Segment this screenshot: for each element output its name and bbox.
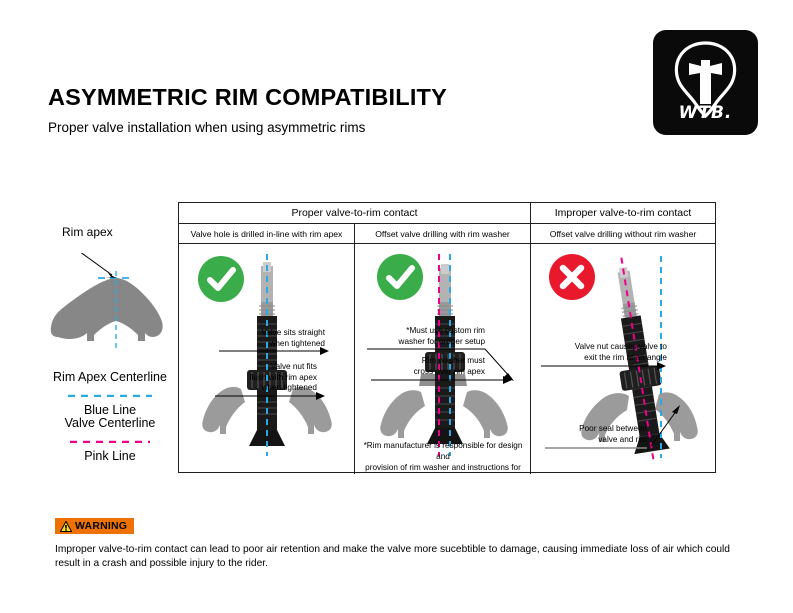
- warning-block: WARNING Improper valve-to-rim contact ca…: [55, 518, 745, 572]
- panel-offset-without-washer: Valve nut causes valve to exit the rim a…: [531, 244, 715, 474]
- legend-key-pink-line1: Valve Centerline: [40, 416, 180, 431]
- warning-badge-label: WARNING: [75, 520, 127, 532]
- page-title: ASYMMETRIC RIM COMPATIBILITY: [48, 84, 447, 111]
- legend-rim-apex-label: Rim apex: [62, 225, 113, 239]
- warning-triangle-icon: [60, 521, 72, 532]
- compatibility-table: Proper valve-to-rim contact Improper val…: [178, 202, 716, 473]
- column-header-1: Valve hole is drilled in-line with rim a…: [179, 224, 355, 243]
- wtb-logo: WTB.: [653, 30, 758, 135]
- panel-offset-with-washer: *Must use custom rim washer for proper s…: [355, 244, 531, 474]
- table-group-header-row: Proper valve-to-rim contact Improper val…: [179, 203, 715, 224]
- callout-valve-nut-flush: Valve nut fits flush with rim apex when …: [193, 362, 317, 394]
- panel-footnote-rim-manufacturer: *Rim manufacturer is responsible for des…: [361, 440, 525, 474]
- page-subtitle: Proper valve installation when using asy…: [48, 120, 365, 135]
- group-header-improper: Improper valve-to-rim contact: [531, 203, 715, 223]
- table-column-header-row: Valve hole is drilled in-line with rim a…: [179, 224, 715, 244]
- table-body-row: Valve sits straight when tightened Valve…: [179, 244, 715, 474]
- warning-badge: WARNING: [55, 518, 134, 534]
- column-header-3: Offset valve drilling without rim washer: [531, 224, 715, 243]
- legend-key-blue-line1: Rim Apex Centerline: [40, 370, 180, 385]
- legend-pink-dash-sample: [40, 440, 180, 443]
- legend-key-blue: Rim Apex Centerline Blue Line: [40, 370, 180, 418]
- legend-key-pink-line2: Pink Line: [40, 449, 180, 464]
- column-header-2: Offset valve drilling with rim washer: [355, 224, 531, 243]
- panel-inline-drilling: Valve sits straight when tightened Valve…: [179, 244, 355, 474]
- callout-leader-lines-1: [179, 244, 355, 474]
- legend: Rim apex Rim Apex Centerline Blue Line V…: [40, 225, 180, 450]
- warning-text: Improper valve-to-rim contact can lead t…: [55, 543, 745, 572]
- group-header-proper: Proper valve-to-rim contact: [179, 203, 531, 223]
- callout-leader-lines-3: [531, 244, 715, 474]
- wtb-wordmark: WTB.: [653, 103, 758, 123]
- rim-cross-section-diagram: [40, 253, 180, 363]
- poster-root: ASYMMETRIC RIM COMPATIBILITY Proper valv…: [0, 0, 793, 613]
- legend-key-pink: Valve Centerline Pink Line: [40, 416, 180, 464]
- legend-blue-dash-sample: [40, 394, 180, 397]
